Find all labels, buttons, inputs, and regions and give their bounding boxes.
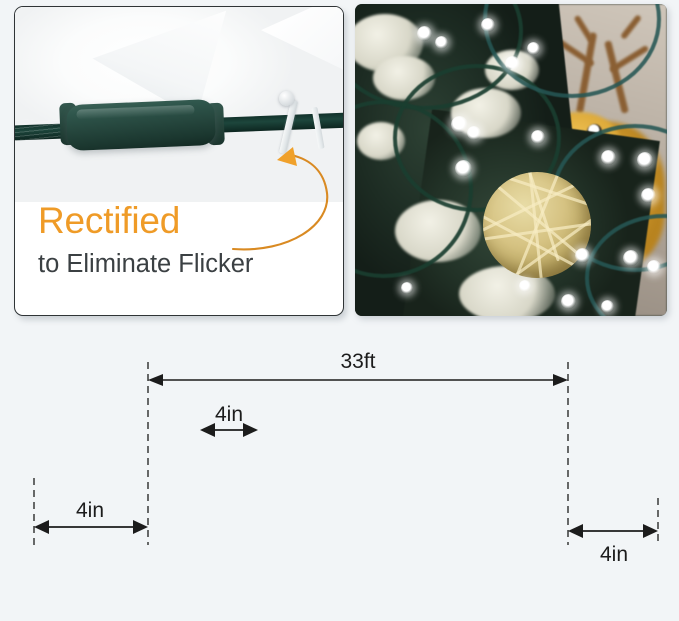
led-light xyxy=(641,188,656,203)
arrowhead-right xyxy=(553,374,568,386)
feature-caption: Rectified to Eliminate Flicker xyxy=(15,193,343,315)
christmas-tree-lights-photo xyxy=(355,4,667,316)
white-led-bulb xyxy=(279,91,294,106)
feature-headline: Rectified xyxy=(38,200,180,242)
led-light xyxy=(531,130,545,144)
led-light xyxy=(435,36,448,49)
top-row: Rectified to Eliminate Flicker xyxy=(0,0,679,330)
feature-subline: to Eliminate Flicker xyxy=(38,250,253,279)
arrowhead-left xyxy=(34,520,49,534)
infographic-stage: Rectified to Eliminate Flicker xyxy=(0,0,679,621)
string-light-dimensions-diagram: 33ft 4in 4in 4in xyxy=(0,330,679,621)
led-light xyxy=(601,300,614,313)
green-rectifier-box xyxy=(66,99,216,151)
arrowhead-right xyxy=(133,520,148,534)
led-light xyxy=(451,116,468,133)
led-light xyxy=(527,42,540,55)
arrowhead-right xyxy=(243,423,258,437)
led-light xyxy=(601,150,616,165)
led-light xyxy=(467,126,481,140)
curved-arrow-icon xyxy=(227,145,344,253)
led-light xyxy=(575,248,590,263)
rectified-feature-panel: Rectified to Eliminate Flicker xyxy=(14,6,344,316)
led-light xyxy=(561,294,576,309)
tail-wire-label: 4in xyxy=(600,543,628,566)
led-light xyxy=(455,160,472,177)
arrowhead-right xyxy=(643,524,658,538)
total-length-label: 33ft xyxy=(340,350,375,373)
arrowhead-left xyxy=(200,423,215,437)
lead-wire-label: 4in xyxy=(76,499,104,522)
led-light xyxy=(623,250,639,266)
led-light xyxy=(481,18,495,32)
led-light xyxy=(519,280,531,292)
led-light xyxy=(505,56,520,71)
gold-rattan-ball-ornament xyxy=(483,172,591,278)
arrowhead-left xyxy=(568,524,583,538)
led-light xyxy=(637,152,653,168)
led-light xyxy=(417,26,432,41)
bulb-spacing-label: 4in xyxy=(215,403,243,426)
arrowhead-left xyxy=(148,374,163,386)
led-light xyxy=(647,260,661,274)
led-light xyxy=(401,282,413,294)
